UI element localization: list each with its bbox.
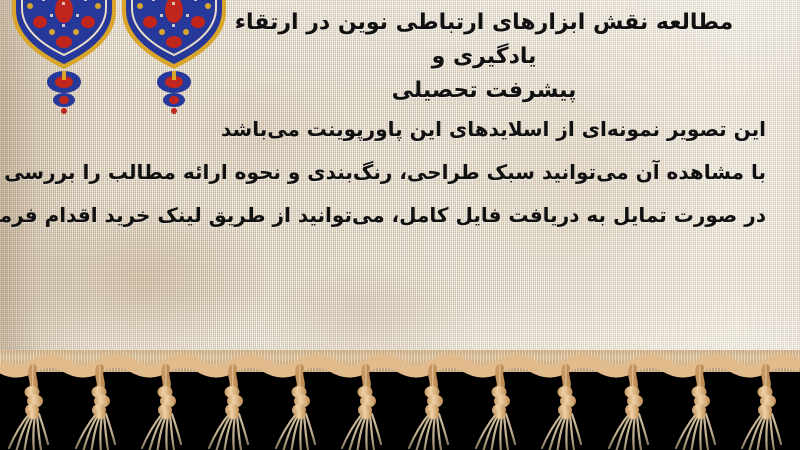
- slide-title-line-2: پیشرفت تحصیلی: [204, 74, 764, 108]
- carpet-medallion-icon: [8, 0, 120, 118]
- carpet-tassel-fringe: [0, 354, 800, 450]
- slide-title: مطالعه نقش ابزارهای ارتباطی نوین در ارتق…: [204, 6, 764, 108]
- presentation-slide: مطالعه نقش ابزارهای ارتباطی نوین در ارتق…: [0, 0, 800, 450]
- slide-body: این تصویر نمونه‌ای از اسلایدهای این پاور…: [31, 108, 766, 237]
- slide-body-line-2: با مشاهده آن می‌توانید سبک طراحی، رنگ‌بن…: [31, 151, 766, 194]
- slide-body-line-1: این تصویر نمونه‌ای از اسلایدهای این پاور…: [31, 108, 766, 151]
- slide-title-line-1: مطالعه نقش ابزارهای ارتباطی نوین در ارتق…: [204, 6, 764, 74]
- slide-body-line-3: در صورت تمایل به دریافت فایل کامل، می‌تو…: [31, 194, 766, 237]
